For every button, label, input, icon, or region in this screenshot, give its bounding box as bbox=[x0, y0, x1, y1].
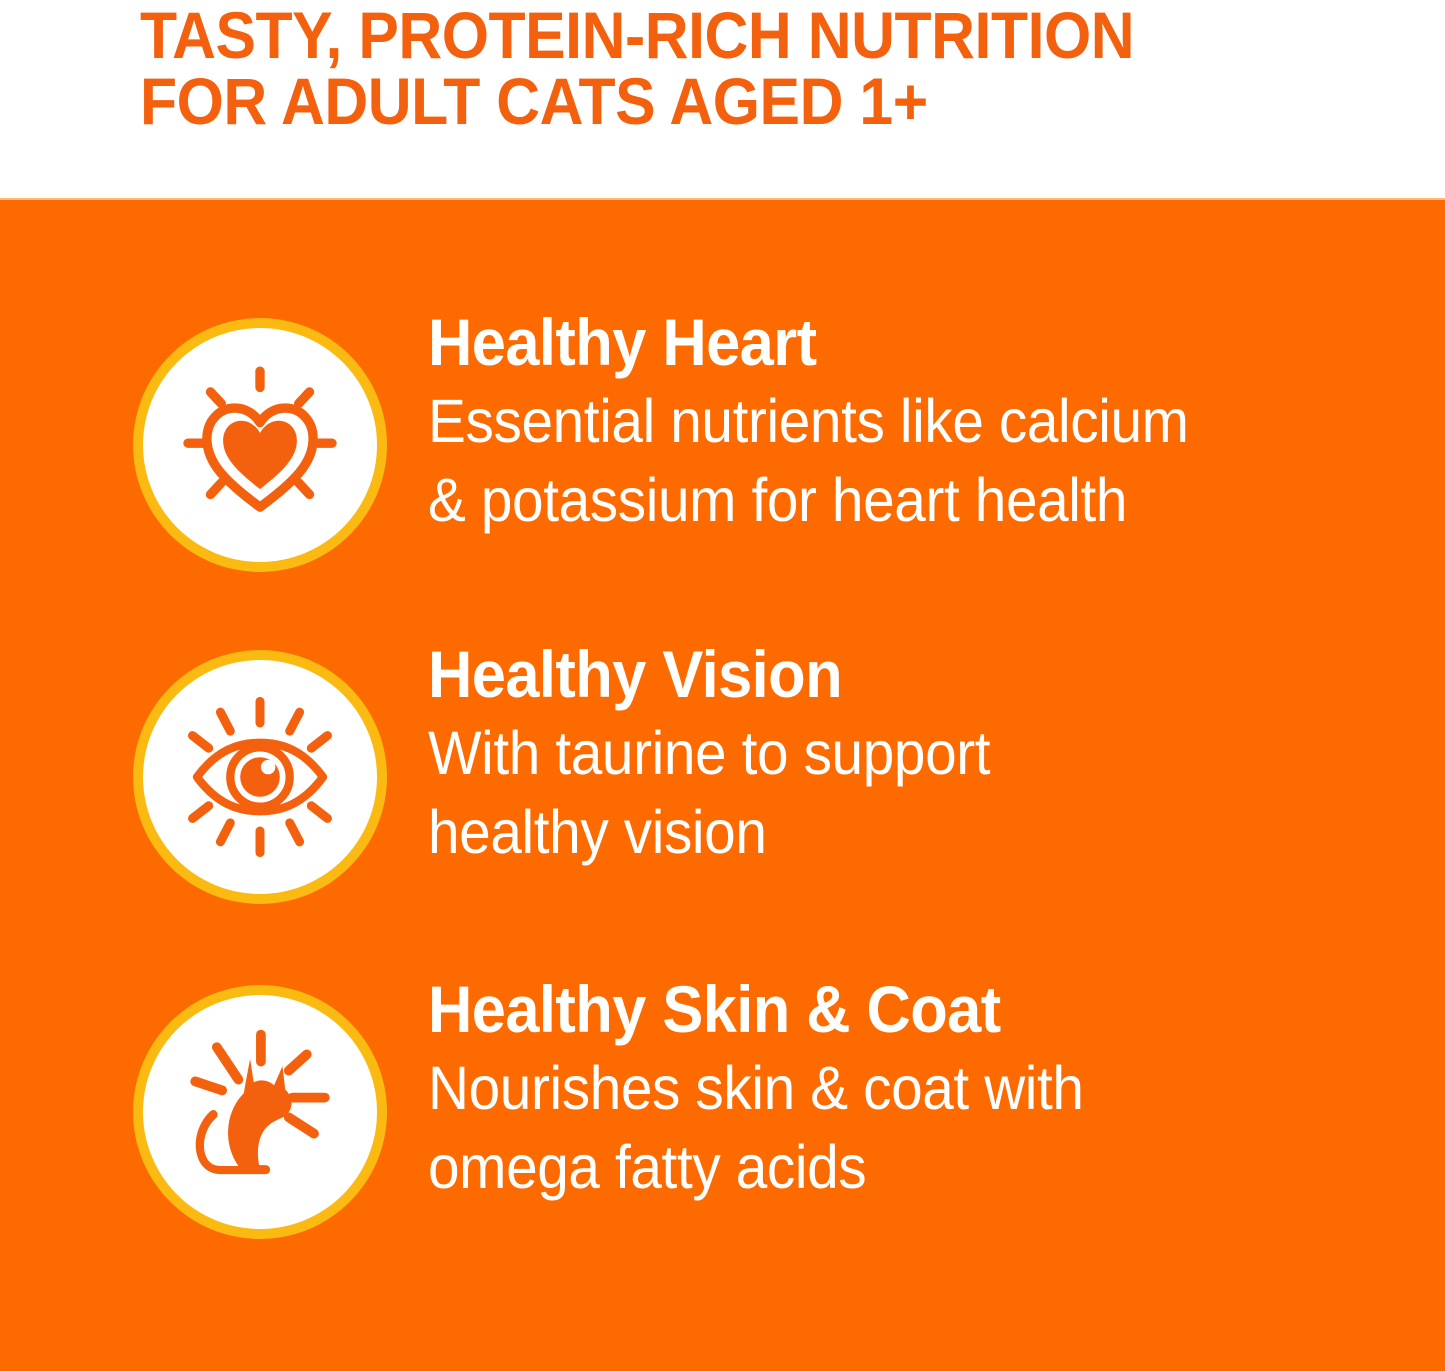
benefit-icon-badge bbox=[133, 985, 387, 1239]
cat-rays-icon bbox=[170, 1022, 350, 1202]
product-benefits-infographic: TASTY, PROTEIN-RICH NUTRITION FOR ADULT … bbox=[0, 0, 1445, 1371]
benefit-title: Healthy Vision bbox=[428, 638, 1312, 710]
benefit-icon-badge bbox=[133, 650, 387, 904]
benefit-text-block: Healthy Heart Essential nutrients like c… bbox=[428, 306, 1378, 540]
benefit-title: Healthy Skin & Coat bbox=[428, 973, 1312, 1045]
page-headline: TASTY, PROTEIN-RICH NUTRITION FOR ADULT … bbox=[140, 2, 1308, 134]
benefit-description: With taurine to support healthy vision bbox=[428, 714, 1312, 872]
benefit-description: Essential nutrients like calcium & potas… bbox=[428, 382, 1312, 540]
benefits-panel: Healthy Heart Essential nutrients like c… bbox=[0, 198, 1445, 1371]
benefit-description: Nourishes skin & coat with omega fatty a… bbox=[428, 1049, 1312, 1207]
benefit-text-block: Healthy Vision With taurine to support h… bbox=[428, 638, 1378, 872]
benefit-text-block: Healthy Skin & Coat Nourishes skin & coa… bbox=[428, 973, 1378, 1207]
heart-rays-icon bbox=[170, 355, 350, 535]
benefit-item-skin-coat: Healthy Skin & Coat Nourishes skin & coa… bbox=[0, 973, 1445, 1253]
panel-divider bbox=[0, 198, 1445, 200]
benefit-title: Healthy Heart bbox=[428, 306, 1312, 378]
benefit-item-heart: Healthy Heart Essential nutrients like c… bbox=[0, 306, 1445, 586]
header-band: TASTY, PROTEIN-RICH NUTRITION FOR ADULT … bbox=[0, 0, 1445, 198]
benefit-icon-badge bbox=[133, 318, 387, 572]
benefit-item-vision: Healthy Vision With taurine to support h… bbox=[0, 638, 1445, 918]
eye-rays-icon bbox=[170, 687, 350, 867]
